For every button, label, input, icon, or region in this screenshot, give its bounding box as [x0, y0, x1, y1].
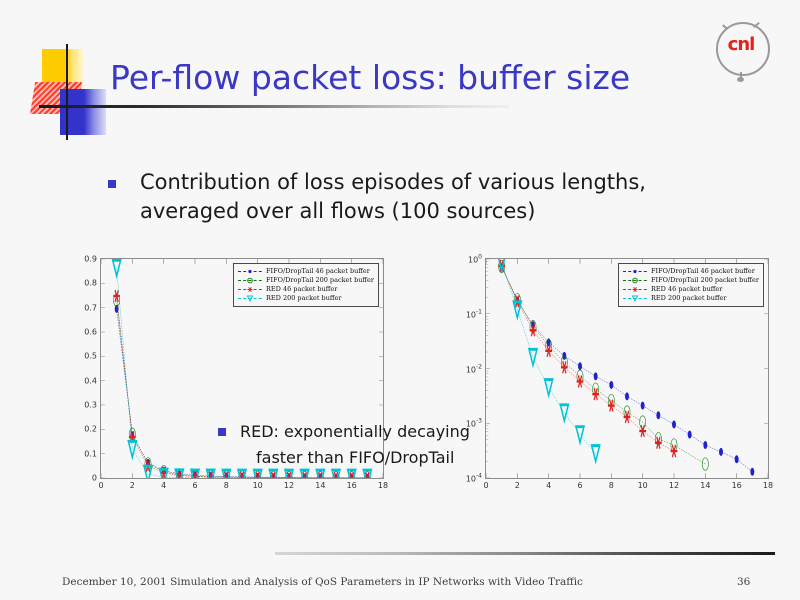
- x-tick-label: 12: [284, 481, 294, 490]
- legend-label: FIFO/DropTail 46 packet buffer: [651, 267, 755, 276]
- x-tick-label: 16: [347, 481, 357, 490]
- legend-marker-icon: [622, 285, 648, 294]
- legend-marker-icon: [622, 276, 648, 285]
- legend-row: RED 46 packet buffer: [237, 285, 374, 294]
- x-tick-label: 14: [700, 481, 710, 490]
- legend-label: FIFO/DropTail 200 packet buffer: [266, 276, 374, 285]
- x-tick-label: 8: [224, 481, 229, 490]
- y-tick-label: 0.4: [84, 376, 97, 385]
- y-tick-label: 10-2: [466, 363, 482, 374]
- y-tick-label: 0.5: [84, 352, 97, 361]
- footer-page-number: 36: [737, 576, 750, 588]
- legend-row: FIFO/DropTail 46 packet buffer: [237, 267, 374, 276]
- x-tick-label: 6: [192, 481, 197, 490]
- presentation-slide: cnl Per-flow packet loss: buffer size Co…: [0, 0, 800, 600]
- sub-bullet-line-1: RED: exponentially decaying: [240, 420, 518, 444]
- x-tick-label: 0: [483, 481, 488, 490]
- x-tick-label: 0: [98, 481, 103, 490]
- x-tick-label: 18: [378, 481, 388, 490]
- legend-label: RED 46 packet buffer: [651, 285, 722, 294]
- vertical-rule-decoration: [66, 44, 68, 140]
- y-tick-label: 0.1: [84, 449, 97, 458]
- y-tick-label: 10-1: [466, 308, 482, 319]
- legend-label: FIFO/DropTail 46 packet buffer: [266, 267, 370, 276]
- bullet-line-2: averaged over all flows (100 sources): [140, 197, 708, 226]
- legend-marker-icon: [237, 276, 263, 285]
- legend-row: FIFO/DropTail 46 packet buffer: [622, 267, 759, 276]
- legend-linear: FIFO/DropTail 46 packet bufferFIFO/DropT…: [233, 263, 379, 307]
- title-underline-rule: [39, 105, 509, 108]
- y-tick-label: 0.6: [84, 327, 97, 336]
- legend-marker-icon: [237, 294, 263, 303]
- footer-text: December 10, 2001 Simulation and Analysi…: [62, 576, 583, 588]
- legend-row: RED 200 packet buffer: [237, 294, 374, 303]
- y-tick-label: 0.8: [84, 279, 97, 288]
- y-tick-label: 100: [468, 254, 482, 265]
- x-tick-label: 8: [609, 481, 614, 490]
- x-tick-label: 10: [638, 481, 648, 490]
- y-tick-label: 10-4: [466, 473, 482, 484]
- x-tick-label: 4: [161, 481, 166, 490]
- sub-bullet-square-icon: [218, 428, 226, 436]
- x-tick-label: 18: [763, 481, 773, 490]
- legend-row: RED 46 packet buffer: [622, 285, 759, 294]
- y-tick-label: 0.9: [84, 255, 97, 264]
- sub-bullet-line-2: faster than FIFO/DropTail: [256, 444, 518, 472]
- x-tick-label: 12: [669, 481, 679, 490]
- legend-row: RED 200 packet buffer: [622, 294, 759, 303]
- x-tick-label: 2: [130, 481, 135, 490]
- legend-marker-icon: [237, 267, 263, 276]
- legend-marker-icon: [622, 267, 648, 276]
- bullet-line-1: Contribution of loss episodes of various…: [140, 168, 708, 197]
- legend-label: RED 200 packet buffer: [651, 294, 726, 303]
- x-tick-label: 4: [546, 481, 551, 490]
- legend-marker-icon: [622, 294, 648, 303]
- x-tick-label: 6: [577, 481, 582, 490]
- y-tick-label: 0: [92, 474, 97, 483]
- page-title: Per-flow packet loss: buffer size: [110, 58, 750, 98]
- cnl-logo-text: cnl: [712, 34, 770, 55]
- sub-bullet-block: RED: exponentially decaying faster than …: [218, 420, 518, 472]
- legend-log: FIFO/DropTail 46 packet bufferFIFO/DropT…: [618, 263, 764, 307]
- legend-label: RED 46 packet buffer: [266, 285, 337, 294]
- main-bullet-block: Contribution of loss episodes of various…: [108, 168, 708, 226]
- y-tick-label: 0.7: [84, 303, 97, 312]
- legend-row: FIFO/DropTail 200 packet buffer: [237, 276, 374, 285]
- y-tick-label: 0.2: [84, 425, 97, 434]
- legend-label: FIFO/DropTail 200 packet buffer: [651, 276, 759, 285]
- footer-rule: [275, 552, 775, 555]
- bullet-square-icon: [108, 180, 116, 188]
- logo-tick-left-icon: [722, 24, 728, 29]
- legend-marker-icon: [237, 285, 263, 294]
- x-tick-label: 16: [732, 481, 742, 490]
- x-tick-label: 14: [315, 481, 325, 490]
- x-tick-label: 2: [515, 481, 520, 490]
- legend-row: FIFO/DropTail 200 packet buffer: [622, 276, 759, 285]
- plot-area-log: 10010-110-210-310-4 024681012141618 FIFO…: [485, 258, 769, 479]
- x-tick-label: 10: [253, 481, 263, 490]
- legend-label: RED 200 packet buffer: [266, 294, 341, 303]
- y-tick-label: 0.3: [84, 400, 97, 409]
